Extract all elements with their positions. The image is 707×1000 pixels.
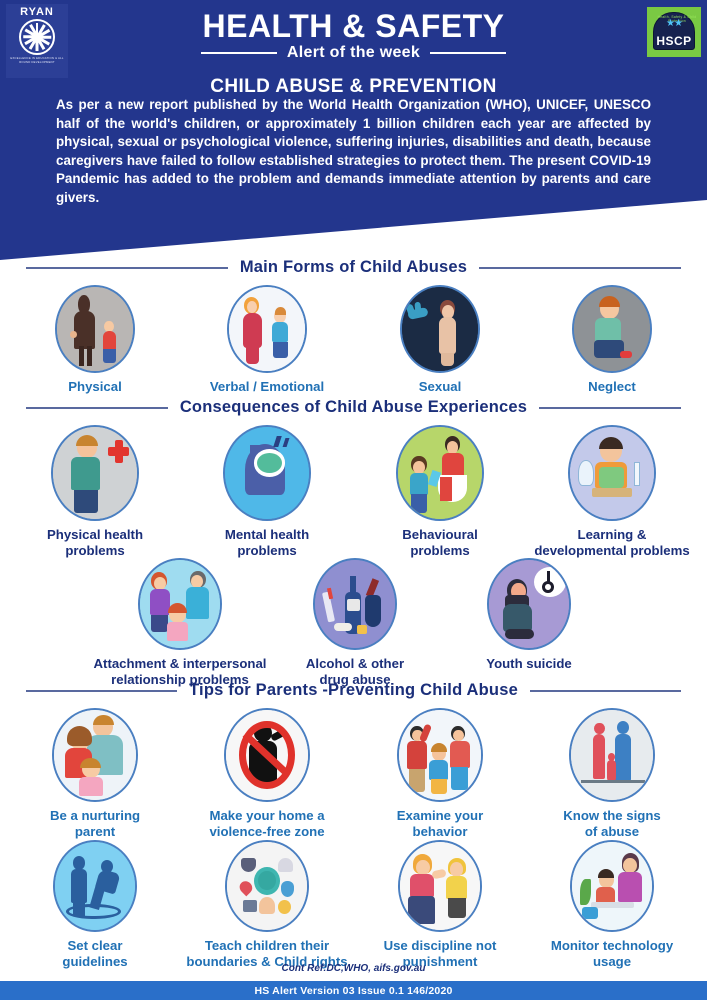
subtitle: Alert of the week — [287, 44, 420, 62]
child-rights-globe-icon[interactable] — [225, 840, 309, 932]
section-title: Main Forms of Child Abuses — [240, 258, 467, 277]
info-card[interactable]: Monitor technology usage — [522, 840, 702, 969]
info-card[interactable]: Behavioural problems — [350, 425, 530, 558]
section-heading-main-forms: Main Forms of Child Abuses — [0, 258, 707, 277]
card-label: Learning & developmental problems — [534, 527, 689, 558]
mother-pointing-finger-boy-icon[interactable] — [398, 840, 482, 932]
subtitle-rule-left — [201, 52, 277, 54]
header-banner: RYAN EXCELLENCE IN EDUCATION & ALL ROUND… — [0, 0, 707, 262]
alert-title: CHILD ABUSE & PREVENTION — [0, 76, 707, 98]
section-heading-tips: Tips for Parents -Preventing Child Abuse — [0, 681, 707, 700]
section-title: Tips for Parents -Preventing Child Abuse — [189, 681, 518, 700]
card-label: Physical health problems — [47, 527, 143, 558]
card-label: Examine your behavior — [397, 808, 484, 839]
footer-version-bar: HS Alert Version 03 Issue 0.1 146/2020 — [0, 981, 707, 1000]
section-heading-consequences: Consequences of Child Abuse Experiences — [0, 398, 707, 417]
poster-root: RYAN EXCELLENCE IN EDUCATION & ALL ROUND… — [0, 0, 707, 1000]
info-card[interactable]: Attachment & interpersonal relationship … — [90, 558, 270, 687]
two-figures-silhouette-icon[interactable] — [569, 708, 655, 802]
card-label: Behavioural problems — [402, 527, 478, 558]
info-card[interactable]: Sexual — [350, 285, 530, 395]
info-card[interactable]: Physical — [5, 285, 185, 395]
info-card[interactable]: Make your home a violence-free zone — [177, 708, 357, 839]
card-label: Neglect — [588, 379, 636, 395]
family-hug-icon[interactable] — [52, 708, 138, 802]
reference-note: Cont Ref:DC,WHO, aifs.gov.au — [0, 963, 707, 974]
mother-child-laptop-icon[interactable] — [570, 840, 654, 932]
parents-raising-hands-child-icon[interactable] — [397, 708, 483, 802]
person-drawing-boundary-icon[interactable] — [53, 840, 137, 932]
bottles-syringe-icon[interactable] — [313, 558, 397, 650]
reaching-hand-scared-girl-icon[interactable] — [400, 285, 480, 373]
section-rule-left — [26, 407, 168, 409]
info-card[interactable]: Physical health problems — [5, 425, 185, 558]
section-rule-left — [26, 690, 177, 692]
info-card[interactable]: Set clear guidelines — [5, 840, 185, 969]
footer-version-text: HS Alert Version 03 Issue 0.1 146/2020 — [254, 985, 452, 997]
card-label: Verbal / Emotional — [210, 379, 324, 395]
card-label: Physical — [68, 379, 122, 395]
info-card[interactable]: Use discipline not punishment — [350, 840, 530, 969]
mother-shouting-at-boy-icon[interactable] — [227, 285, 307, 373]
info-card[interactable]: Learning & developmental problems — [522, 425, 702, 558]
card-label: Mental health problems — [225, 527, 309, 558]
card-label: Be a nurturing parent — [50, 808, 140, 839]
section-rule-right — [479, 267, 681, 269]
head-brain-icon[interactable] — [223, 425, 311, 521]
card-label: Sexual — [419, 379, 462, 395]
section-rule-right — [530, 690, 681, 692]
info-card[interactable]: Alcohol & other drug abuse — [265, 558, 445, 687]
arguing-parents-crying-child-icon[interactable] — [138, 558, 222, 650]
info-card[interactable]: Be a nurturing parent — [5, 708, 185, 839]
info-card[interactable]: Know the signs of abuse — [522, 708, 702, 839]
alert-body-text: As per a new report published by the Wor… — [56, 96, 651, 208]
info-card[interactable]: Mental health problems — [177, 425, 357, 558]
no-violence-prohibition-icon[interactable] — [224, 708, 310, 802]
info-card[interactable]: Verbal / Emotional — [177, 285, 357, 395]
section-rule-left — [26, 267, 228, 269]
info-card[interactable]: Examine your behavior — [350, 708, 530, 839]
subtitle-row: Alert of the week — [0, 44, 707, 62]
boy-refusing-mother-icon[interactable] — [396, 425, 484, 521]
subtitle-rule-right — [430, 52, 506, 54]
card-label: Know the signs of abuse — [563, 808, 660, 839]
section-title: Consequences of Child Abuse Experiences — [180, 398, 527, 417]
info-card[interactable]: Neglect — [522, 285, 702, 395]
page-title: HEALTH & SAFETY — [0, 8, 707, 45]
confused-student-study-icon[interactable] — [568, 425, 656, 521]
card-label: Youth suicide — [486, 656, 571, 672]
injured-boy-red-cross-icon[interactable] — [51, 425, 139, 521]
adult-hitting-child-icon[interactable] — [55, 285, 135, 373]
info-card[interactable]: Teach children their boundaries & Child … — [177, 840, 357, 969]
section-rule-right — [539, 407, 681, 409]
sad-teen-noose-thought-icon[interactable] — [487, 558, 571, 650]
lonely-boy-sitting-icon[interactable] — [572, 285, 652, 373]
card-label: Make your home a violence-free zone — [209, 808, 324, 839]
info-card[interactable]: Youth suicide — [439, 558, 619, 672]
